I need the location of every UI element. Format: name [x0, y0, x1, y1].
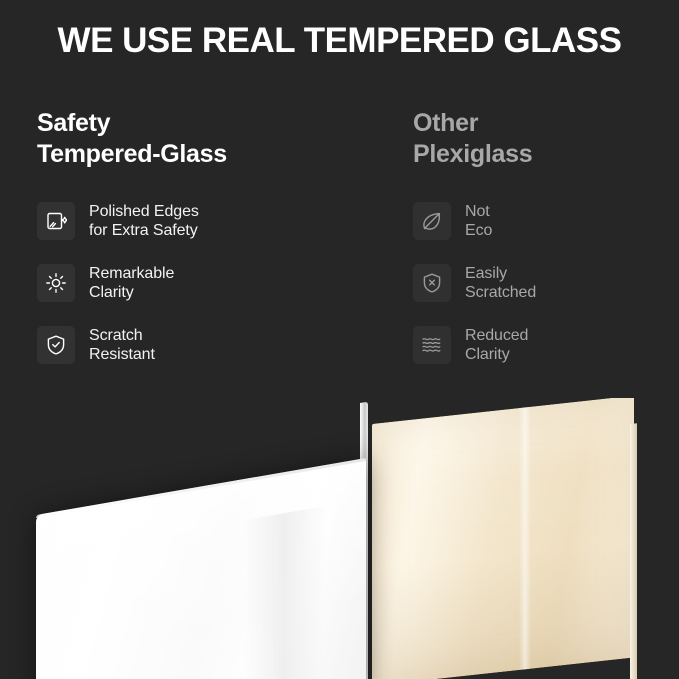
- column-heading-line2: Tempered-Glass: [37, 139, 367, 170]
- feature-line2: Resistant: [89, 345, 155, 364]
- feature-line2: for Extra Safety: [89, 221, 199, 240]
- feature-line1: Easily: [465, 265, 507, 282]
- feature-scratch-resistant: Scratch Resistant: [37, 326, 367, 364]
- column-heading-line2: Plexiglass: [413, 139, 673, 170]
- plexiglass-panel-edge: [630, 423, 637, 679]
- column-heading-tempered-glass: Safety Tempered-Glass: [37, 108, 367, 170]
- wavy-lines-icon: [413, 326, 451, 364]
- plexiglass-panel: [372, 398, 634, 679]
- shield-x-icon: [413, 264, 451, 302]
- leaf-crossed-out-icon: [413, 202, 451, 240]
- feature-line2: Scratched: [465, 283, 536, 302]
- feature-polished-edges: Polished Edges for Extra Safety: [37, 202, 367, 240]
- feature-line1: Not: [465, 203, 490, 220]
- feature-line1: Scratch: [89, 327, 143, 344]
- polished-edges-icon: [37, 202, 75, 240]
- feature-line2: Eco: [465, 221, 492, 240]
- page-title: WE USE REAL TEMPERED GLASS: [0, 20, 679, 62]
- tempered-glass-panel: [36, 458, 366, 679]
- shield-check-icon: [37, 326, 75, 364]
- feature-label: Not Eco: [465, 202, 492, 240]
- feature-not-eco: Not Eco: [413, 202, 673, 240]
- column-heading-line1: Safety: [37, 109, 110, 137]
- feature-remarkable-clarity: Remarkable Clarity: [37, 264, 367, 302]
- brightness-sun-icon: [37, 264, 75, 302]
- column-heading-plexiglass: Other Plexiglass: [413, 108, 673, 170]
- product-photo: [0, 398, 679, 679]
- feature-line1: Polished Edges: [89, 203, 199, 220]
- feature-label: Polished Edges for Extra Safety: [89, 202, 199, 240]
- feature-label: Remarkable Clarity: [89, 264, 174, 302]
- column-heading-line1: Other: [413, 109, 478, 137]
- column-plexiglass: Other Plexiglass Not Eco: [413, 108, 673, 364]
- feature-easily-scratched: Easily Scratched: [413, 264, 673, 302]
- feature-reduced-clarity: Reduced Clarity: [413, 326, 673, 364]
- feature-line1: Reduced: [465, 327, 528, 344]
- feature-label: Reduced Clarity: [465, 326, 528, 364]
- feature-label: Scratch Resistant: [89, 326, 155, 364]
- feature-line2: Clarity: [89, 283, 174, 302]
- comparison-infographic: WE USE REAL TEMPERED GLASS Safety Temper…: [0, 0, 679, 679]
- column-tempered-glass: Safety Tempered-Glass Polished Edges for…: [37, 108, 367, 364]
- feature-label: Easily Scratched: [465, 264, 536, 302]
- feature-line1: Remarkable: [89, 265, 174, 282]
- feature-line2: Clarity: [465, 345, 528, 364]
